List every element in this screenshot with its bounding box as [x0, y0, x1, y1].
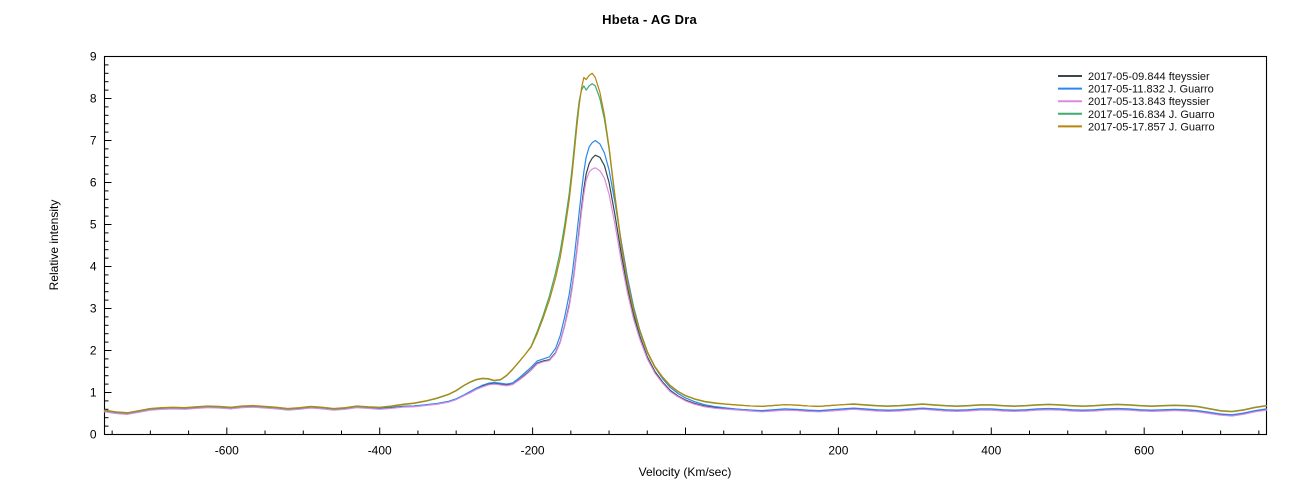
svg-text:7: 7	[90, 134, 97, 148]
legend-label-1: 2017-05-11.832 J. Guarro	[1088, 84, 1214, 96]
y-axis-label: Relative intensity	[47, 200, 61, 291]
series-line-1	[105, 141, 1267, 415]
svg-text:600: 600	[1134, 444, 1154, 458]
svg-text:-600: -600	[215, 444, 239, 458]
svg-text:-200: -200	[521, 444, 545, 458]
legend-label-4: 2017-05-17.857 J. Guarro	[1088, 121, 1215, 133]
svg-text:200: 200	[828, 444, 848, 458]
svg-text:4: 4	[90, 260, 97, 274]
axis-ticks	[105, 57, 1259, 435]
plot-area: -600-400-2002004006000123456789 Velocity…	[0, 0, 1299, 500]
legend-label-0: 2017-05-09.844 fteyssier	[1088, 71, 1210, 83]
svg-text:400: 400	[981, 444, 1001, 458]
svg-text:2: 2	[90, 344, 97, 358]
series-line-2	[105, 168, 1267, 416]
svg-text:6: 6	[90, 176, 97, 190]
chart-legend: 2017-05-09.844 fteyssier2017-05-11.832 J…	[1058, 71, 1215, 133]
svg-text:0: 0	[90, 428, 97, 442]
svg-text:3: 3	[90, 302, 97, 316]
x-axis-label: Velocity (Km/sec)	[639, 465, 732, 479]
svg-text:8: 8	[90, 92, 97, 106]
legend-label-3: 2017-05-16.834 J. Guarro	[1088, 109, 1215, 121]
svg-text:5: 5	[90, 218, 97, 232]
svg-text:-400: -400	[368, 444, 392, 458]
legend-label-2: 2017-05-13.843 fteyssier	[1088, 96, 1210, 108]
svg-text:9: 9	[90, 50, 97, 64]
series-line-0	[105, 155, 1267, 415]
spectrum-chart: Hbeta - AG Dra -600-400-2002004006000123…	[0, 0, 1299, 500]
svg-text:1: 1	[90, 386, 97, 400]
